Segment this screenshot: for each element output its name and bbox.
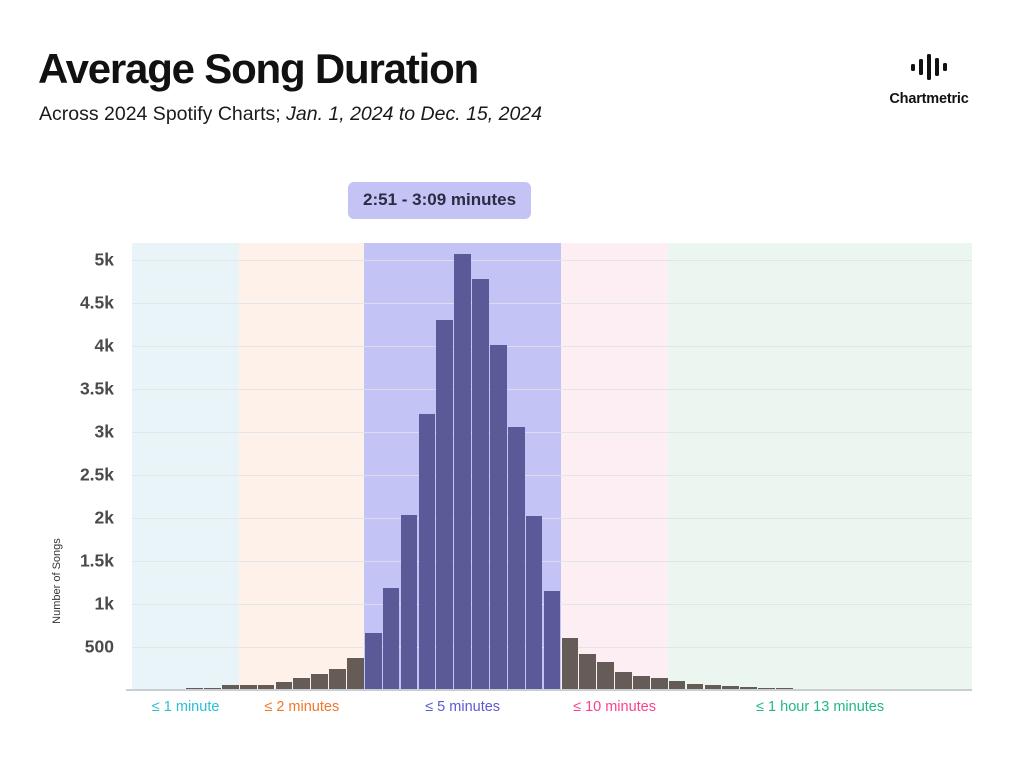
bar-26[interactable] xyxy=(597,662,614,690)
bar-11[interactable] xyxy=(329,669,346,690)
y-axis-title: Number of Songs xyxy=(51,506,63,656)
bar-22[interactable] xyxy=(526,516,543,690)
bar-21[interactable] xyxy=(508,427,525,690)
bar-10[interactable] xyxy=(311,674,328,690)
x-axis-band-labels: ≤ 1 minute≤ 2 minutes≤ 5 minutes≤ 10 min… xyxy=(132,699,972,725)
waveform-bar-1 xyxy=(911,64,915,71)
band-label-3: ≤ 10 minutes xyxy=(573,699,656,715)
bar-18[interactable] xyxy=(454,254,471,690)
bar-19[interactable] xyxy=(472,279,489,690)
waveform-bar-2 xyxy=(919,59,923,75)
highlight-badge: 2:51 - 3:09 minutes xyxy=(348,182,531,219)
band-label-2: ≤ 5 minutes xyxy=(425,699,500,715)
y-tick-1.5k: 1.5k xyxy=(80,551,114,572)
bar-14[interactable] xyxy=(383,588,400,690)
y-tick-3k: 3k xyxy=(95,422,114,443)
bar-23[interactable] xyxy=(544,591,561,690)
bar-24[interactable] xyxy=(562,638,579,690)
waveform-bar-3 xyxy=(927,54,931,80)
bar-13[interactable] xyxy=(365,633,382,690)
band-label-1: ≤ 2 minutes xyxy=(264,699,339,715)
bar-17[interactable] xyxy=(436,320,453,690)
y-tick-2.5k: 2.5k xyxy=(80,465,114,486)
chartmetric-logo: Chartmetric xyxy=(874,52,984,107)
logo-wordmark: Chartmetric xyxy=(874,91,984,107)
page-title: Average Song Duration xyxy=(38,45,478,93)
bar-27[interactable] xyxy=(615,672,632,690)
chart-page: Average Song Duration Across 2024 Spotif… xyxy=(0,0,1024,770)
waveform-icon xyxy=(874,52,984,82)
bar-16[interactable] xyxy=(419,414,436,690)
subtitle-daterange: Jan. 1, 2024 to Dec. 15, 2024 xyxy=(286,103,542,125)
bar-20[interactable] xyxy=(490,345,507,690)
waveform-bar-5 xyxy=(943,63,947,71)
y-tick-500: 500 xyxy=(85,637,114,658)
y-tick-1k: 1k xyxy=(95,594,114,615)
waveform-bar-4 xyxy=(935,58,939,76)
bar-12[interactable] xyxy=(347,658,364,690)
band-label-4: ≤ 1 hour 13 minutes xyxy=(756,699,884,715)
y-tick-4k: 4k xyxy=(95,336,114,357)
bar-28[interactable] xyxy=(633,676,650,690)
subtitle-prefix: Across 2024 Spotify Charts; xyxy=(39,103,286,125)
histogram-bars xyxy=(132,243,972,690)
x-axis-line xyxy=(126,689,972,691)
y-tick-5k: 5k xyxy=(95,250,114,271)
bar-15[interactable] xyxy=(401,515,418,690)
y-tick-3.5k: 3.5k xyxy=(80,379,114,400)
page-subtitle: Across 2024 Spotify Charts; Jan. 1, 2024… xyxy=(39,103,542,126)
plot-area xyxy=(132,243,972,690)
y-tick-2k: 2k xyxy=(95,508,114,529)
band-label-0: ≤ 1 minute xyxy=(152,699,220,715)
bar-25[interactable] xyxy=(579,654,596,690)
y-tick-4.5k: 4.5k xyxy=(80,293,114,314)
